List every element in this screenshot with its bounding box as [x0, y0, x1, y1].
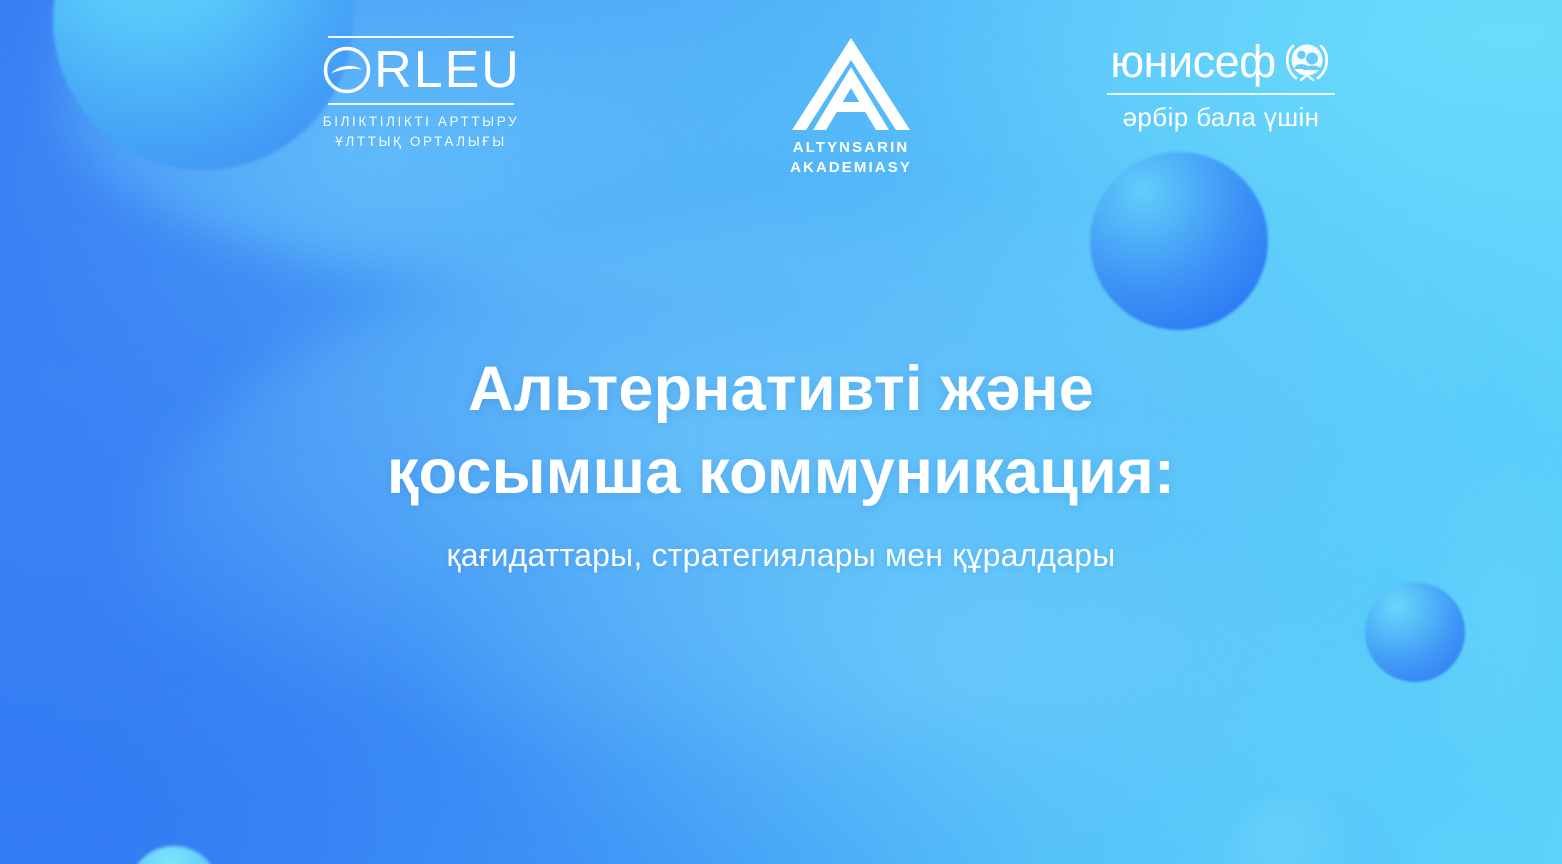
orleu-wordmark-letters: RLEU — [374, 44, 521, 96]
altynsarin-name-line1: ALTYNSARIN — [790, 138, 912, 158]
unicef-tagline: әрбір бала үшін — [1123, 104, 1320, 130]
title-slide: RLEU БІЛІКТІЛІКТІ АРТТЫРУ ҰЛТТЫҚ ОРТАЛЫҒ… — [0, 0, 1562, 864]
unicef-divider — [1107, 93, 1335, 95]
title-line-1: Альтернативті және — [0, 348, 1562, 431]
logo-unicef: юнисеф — [1091, 36, 1351, 176]
orleu-rule-top — [328, 36, 514, 38]
orleu-o-swoosh-icon — [321, 44, 373, 96]
logo-bar: RLEU БІЛІКТІЛІКТІ АРТТЫРУ ҰЛТТЫҚ ОРТАЛЫҒ… — [0, 36, 1562, 176]
orleu-subtitle-line2: ҰЛТТЫҚ ОРТАЛЫҒЫ — [323, 132, 519, 152]
decorative-sphere-right — [1090, 152, 1268, 330]
altynsarin-a-monogram-icon — [788, 36, 914, 132]
headline-block: Альтернативті және қосымша коммуникация:… — [0, 348, 1562, 575]
altynsarin-name-line2: AKADEMIASY — [790, 158, 912, 178]
decorative-sphere-bottom-right — [1365, 582, 1465, 682]
unicef-wordmark-row: юнисеф — [1110, 36, 1331, 86]
unicef-wordmark: юнисеф — [1110, 39, 1275, 84]
subtitle-line: қағидаттары, стратегиялары мен құралдары — [0, 536, 1562, 574]
un-emblem-globe-wreath-icon — [1282, 36, 1332, 86]
orleu-subtitle: БІЛІКТІЛІКТІ АРТТЫРУ ҰЛТТЫҚ ОРТАЛЫҒЫ — [323, 112, 519, 151]
title-line-2: қосымша коммуникация: — [0, 431, 1562, 514]
orleu-subtitle-line1: БІЛІКТІЛІКТІ АРТТЫРУ — [323, 112, 519, 132]
logo-orleu: RLEU БІЛІКТІЛІКТІ АРТТЫРУ ҰЛТТЫҚ ОРТАЛЫҒ… — [211, 36, 631, 176]
orleu-rule-bottom — [328, 103, 514, 105]
orleu-wordmark: RLEU — [321, 44, 521, 96]
altynsarin-name: ALTYNSARIN AKADEMIASY — [790, 138, 912, 178]
logo-altynsarin: ALTYNSARIN AKADEMIASY — [751, 36, 951, 176]
